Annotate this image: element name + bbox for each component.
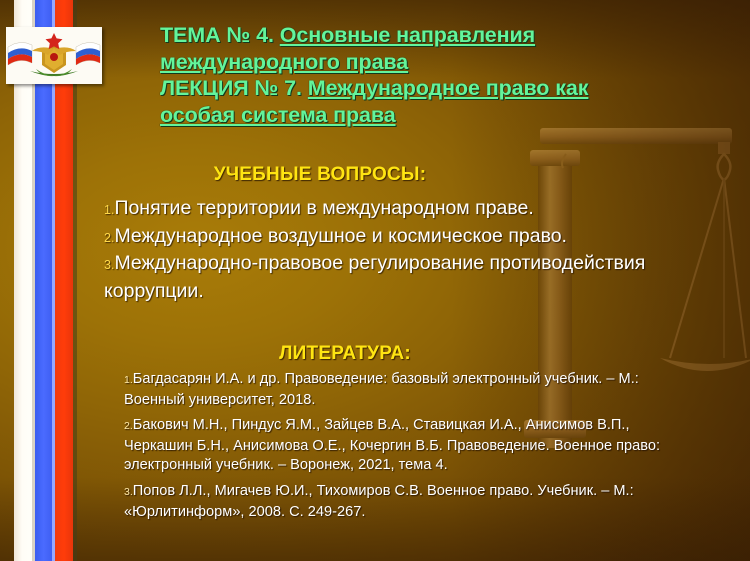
literature-text: Бакович М.Н., Пиндус Я.М., Зайцев В.А., … xyxy=(124,417,660,473)
study-questions-heading: УЧЕБНЫЕ ВОПРОСЫ: xyxy=(0,164,640,186)
literature-text: Багдасарян И.А. и др. Правоведение: базо… xyxy=(124,371,639,408)
literature-number: 3. xyxy=(124,486,133,498)
study-question-item: 2.Международное воздушное и космическое … xyxy=(104,224,724,252)
russian-tricolor-band xyxy=(0,0,76,561)
study-question-item: 3.Международно-правовое регулирование пр… xyxy=(104,251,724,304)
literature-number: 2. xyxy=(124,420,133,432)
question-text: Международно-правовое регулирование прот… xyxy=(104,252,645,302)
blue-stripe xyxy=(35,0,52,561)
white-stripe xyxy=(14,0,32,561)
literature-item: 3.Попов Л.Л., Мигачев Ю.И., Тихомиров С.… xyxy=(124,482,684,522)
study-question-item: 1.Понятие территории в международном пра… xyxy=(104,196,724,224)
question-number: 3. xyxy=(104,258,114,272)
title-line-3: ЛЕКЦИЯ № 7. Международное право как xyxy=(160,75,720,102)
literature-number: 1. xyxy=(124,374,133,386)
title-line-1: ТЕМА № 4. Основные направления xyxy=(160,22,720,49)
question-text: Понятие территории в международном праве… xyxy=(114,197,533,219)
question-number: 1. xyxy=(104,203,114,217)
emblem-artwork xyxy=(6,27,102,84)
literature-item: 2.Бакович М.Н., Пиндус Я.М., Зайцев В.А.… xyxy=(124,416,684,476)
study-questions-list: 1.Понятие территории в международном пра… xyxy=(104,196,724,304)
literature-text: Попов Л.Л., Мигачев Ю.И., Тихомиров С.В.… xyxy=(124,483,634,520)
title-theme-name-cont: международного права xyxy=(160,50,408,74)
title-lecture-name: Международное право как xyxy=(308,76,589,100)
title-theme-name: Основные направления xyxy=(280,23,535,47)
title-lecture-label: ЛЕКЦИЯ № 7. xyxy=(160,76,308,100)
slide-title: ТЕМА № 4. Основные направления междунаро… xyxy=(160,22,720,128)
literature-heading: ЛИТЕРАТУРА: xyxy=(0,343,690,365)
title-line-2: международного права xyxy=(160,49,720,76)
title-theme-label: ТЕМА № 4. xyxy=(160,23,280,47)
red-stripe xyxy=(55,0,73,561)
literature-item: 1.Багдасарян И.А. и др. Правоведение: ба… xyxy=(124,370,684,410)
band-edge-shadow xyxy=(73,0,77,561)
title-lecture-name-cont: особая система права xyxy=(160,103,396,127)
question-number: 2. xyxy=(104,231,114,245)
question-text: Международное воздушное и космическое пр… xyxy=(114,225,567,247)
title-line-4: особая система права xyxy=(160,102,720,129)
presentation-slide: ТЕМА № 4. Основные направления междунаро… xyxy=(0,0,750,561)
russian-armed-forces-emblem xyxy=(6,27,102,84)
literature-list: 1.Багдасарян И.А. и др. Правоведение: ба… xyxy=(124,370,684,522)
